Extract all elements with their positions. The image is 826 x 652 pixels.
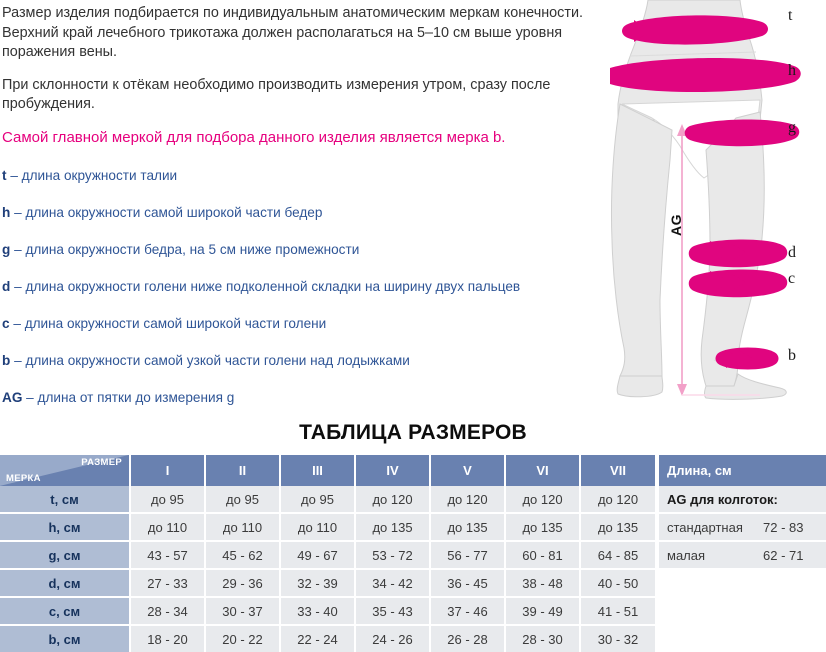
- filler-cell: [659, 596, 826, 622]
- legend-dash: –: [14, 242, 22, 257]
- figure-label-d: d: [788, 244, 796, 262]
- length-table-row: малая 62 - 71: [659, 541, 826, 569]
- table-cell: до 110: [130, 513, 205, 541]
- column-header-3: III: [280, 455, 355, 486]
- legend-description: длина окружности голени ниже подколенной…: [25, 279, 520, 294]
- row-label: d, см: [0, 569, 130, 597]
- length-table-filler-row: [659, 596, 826, 622]
- table-corner-cell: РАЗМЕР МЕРКА: [0, 455, 130, 486]
- intro-text-column: Размер изделия подбирается по индивидуал…: [0, 0, 614, 426]
- length-table-filler-row: [659, 622, 826, 648]
- table-cell: до 135: [505, 513, 580, 541]
- legend-key: AG: [2, 390, 22, 405]
- length-row-value: 72 - 83: [759, 513, 826, 541]
- band-g-thigh: [685, 119, 800, 146]
- table-cell: 49 - 67: [280, 541, 355, 569]
- table-cell: 28 - 30: [505, 625, 580, 652]
- table-cell: до 95: [205, 486, 280, 513]
- legend-description: длина окружности самой широкой части гол…: [25, 316, 327, 331]
- table-cell: 26 - 28: [430, 625, 505, 652]
- table-cell: до 110: [205, 513, 280, 541]
- legend-item-t: t – длина окружности талии: [2, 167, 614, 184]
- table-cell: 36 - 45: [430, 569, 505, 597]
- table-cell: до 135: [355, 513, 430, 541]
- table-cell: до 135: [430, 513, 505, 541]
- table-cell: до 95: [280, 486, 355, 513]
- legend-item-h: h – длина окружности самой широкой части…: [2, 204, 614, 221]
- size-tables-container: РАЗМЕР МЕРКА I II III IV V VI VII t, см …: [0, 455, 826, 651]
- table-cell: 20 - 22: [205, 625, 280, 652]
- figure-label-h: h: [788, 62, 796, 80]
- table-cell: 53 - 72: [355, 541, 430, 569]
- figure-label-t: t: [788, 7, 792, 25]
- intro-paragraph-2: При склонности к отёкам необходимо произ…: [2, 76, 602, 115]
- table-cell: до 120: [355, 486, 430, 513]
- table-cell: до 120: [505, 486, 580, 513]
- band-b-ankle: [716, 348, 779, 370]
- table-row: b, см 18 - 20 20 - 22 22 - 24 24 - 26 26…: [0, 625, 655, 652]
- legend-dash: –: [14, 279, 22, 294]
- legend-item-g: g – длина окружности бедра, на 5 см ниже…: [2, 241, 614, 258]
- legend-dash: –: [10, 168, 18, 183]
- table-cell: 30 - 32: [580, 625, 655, 652]
- table-row: d, см 27 - 33 29 - 36 32 - 39 34 - 42 36…: [0, 569, 655, 597]
- length-table-header-row: Длина, см: [659, 455, 826, 486]
- table-cell: 43 - 57: [130, 541, 205, 569]
- table-cell: 38 - 48: [505, 569, 580, 597]
- table-cell: 27 - 33: [130, 569, 205, 597]
- band-c-calf: [689, 269, 788, 297]
- table-cell: 40 - 50: [580, 569, 655, 597]
- legend-dash: –: [13, 316, 21, 331]
- table-cell: 29 - 36: [205, 569, 280, 597]
- row-label: h, см: [0, 513, 130, 541]
- table-cell: до 110: [280, 513, 355, 541]
- legend-item-d: d – длина окружности голени ниже подколе…: [2, 278, 614, 295]
- table-cell: 39 - 49: [505, 597, 580, 625]
- intro-paragraph-1: Размер изделия подбирается по индивидуал…: [2, 4, 602, 63]
- legend-key: d: [2, 279, 10, 294]
- legend-description: длина окружности бедра, на 5 см ниже про…: [25, 242, 359, 257]
- figure-label-c: c: [788, 270, 795, 288]
- table-cell: 30 - 37: [205, 597, 280, 625]
- intro-highlight: Самой главной меркой для подбора данного…: [2, 128, 602, 148]
- table-row: t, см до 95 до 95 до 95 до 120 до 120 до…: [0, 486, 655, 513]
- legend-key: t: [2, 168, 7, 183]
- table-cell: до 120: [580, 486, 655, 513]
- table-cell: 35 - 43: [355, 597, 430, 625]
- page-title: ТАБЛИЦА РАЗМЕРОВ: [0, 421, 826, 445]
- column-header-6: VI: [505, 455, 580, 486]
- table-cell: 28 - 34: [130, 597, 205, 625]
- legend-key: b: [2, 353, 10, 368]
- figure-label-g: g: [788, 119, 796, 137]
- table-cell: до 135: [580, 513, 655, 541]
- legend-description: длина окружности талии: [22, 168, 177, 183]
- table-cell: 56 - 77: [430, 541, 505, 569]
- table-cell: до 95: [130, 486, 205, 513]
- legend-item-b: b – длина окружности самой узкой части г…: [2, 352, 614, 369]
- table-cell: до 120: [430, 486, 505, 513]
- length-row-name: стандартная: [659, 513, 759, 541]
- table-row: g, см 43 - 57 45 - 62 49 - 67 53 - 72 56…: [0, 541, 655, 569]
- legend-item-c: c – длина окружности самой широкой части…: [2, 315, 614, 332]
- table-cell: 34 - 42: [355, 569, 430, 597]
- column-header-1: I: [130, 455, 205, 486]
- legend-description: длина окружности самой узкой части голен…: [25, 353, 409, 368]
- row-label: g, см: [0, 541, 130, 569]
- length-table-subtitle: AG для колготок:: [659, 486, 826, 513]
- filler-cell: [659, 622, 826, 648]
- size-table: РАЗМЕР МЕРКА I II III IV V VI VII t, см …: [0, 455, 655, 652]
- table-cell: 60 - 81: [505, 541, 580, 569]
- legend-description: длина от пятки до измерения g: [38, 390, 235, 405]
- row-label: c, см: [0, 597, 130, 625]
- length-table-filler-row: [659, 569, 826, 596]
- table-cell: 24 - 26: [355, 625, 430, 652]
- legend-key: c: [2, 316, 10, 331]
- table-cell: 33 - 40: [280, 597, 355, 625]
- column-header-2: II: [205, 455, 280, 486]
- length-table: Длина, см AG для колготок: стандартная 7…: [659, 455, 826, 648]
- table-cell: 64 - 85: [580, 541, 655, 569]
- table-row: c, см 28 - 34 30 - 37 33 - 40 35 - 43 37…: [0, 597, 655, 625]
- table-cell: 32 - 39: [280, 569, 355, 597]
- table-cell: 45 - 62: [205, 541, 280, 569]
- legend-key: g: [2, 242, 10, 257]
- column-header-7: VII: [580, 455, 655, 486]
- length-table-subtitle-row: AG для колготок:: [659, 486, 826, 513]
- column-header-4: IV: [355, 455, 430, 486]
- row-label: b, см: [0, 625, 130, 652]
- legend-dash: –: [14, 353, 22, 368]
- legend-dash: –: [14, 205, 22, 220]
- band-h-hips: [610, 58, 801, 92]
- legend-description: длина окружности самой широкой части бед…: [25, 205, 322, 220]
- size-table-header-row: РАЗМЕР МЕРКА I II III IV V VI VII: [0, 455, 655, 486]
- length-row-name: малая: [659, 541, 759, 569]
- corner-measure-label: МЕРКА: [6, 473, 41, 484]
- figure-label-b: b: [788, 347, 796, 365]
- column-header-5: V: [430, 455, 505, 486]
- length-row-value: 62 - 71: [759, 541, 826, 569]
- legend-key: h: [2, 205, 10, 220]
- row-label: t, см: [0, 486, 130, 513]
- filler-cell: [659, 569, 826, 596]
- legend-dash: –: [26, 390, 34, 405]
- band-d-below-knee: [689, 239, 788, 267]
- table-cell: 37 - 46: [430, 597, 505, 625]
- legend-item-ag: AG – длина от пятки до измерения g: [2, 389, 614, 406]
- body-measurement-illustration: t h g d c b: [610, 0, 826, 410]
- table-cell: 18 - 20: [130, 625, 205, 652]
- table-cell: 22 - 24: [280, 625, 355, 652]
- length-table-header: Длина, см: [659, 455, 826, 486]
- length-table-row: стандартная 72 - 83: [659, 513, 826, 541]
- table-cell: 41 - 51: [580, 597, 655, 625]
- table-row: h, см до 110 до 110 до 110 до 135 до 135…: [0, 513, 655, 541]
- measurement-legend: t – длина окружности талии h – длина окр…: [2, 167, 614, 406]
- figure-label-ag: AG: [668, 214, 684, 236]
- corner-size-label: РАЗМЕР: [81, 457, 122, 468]
